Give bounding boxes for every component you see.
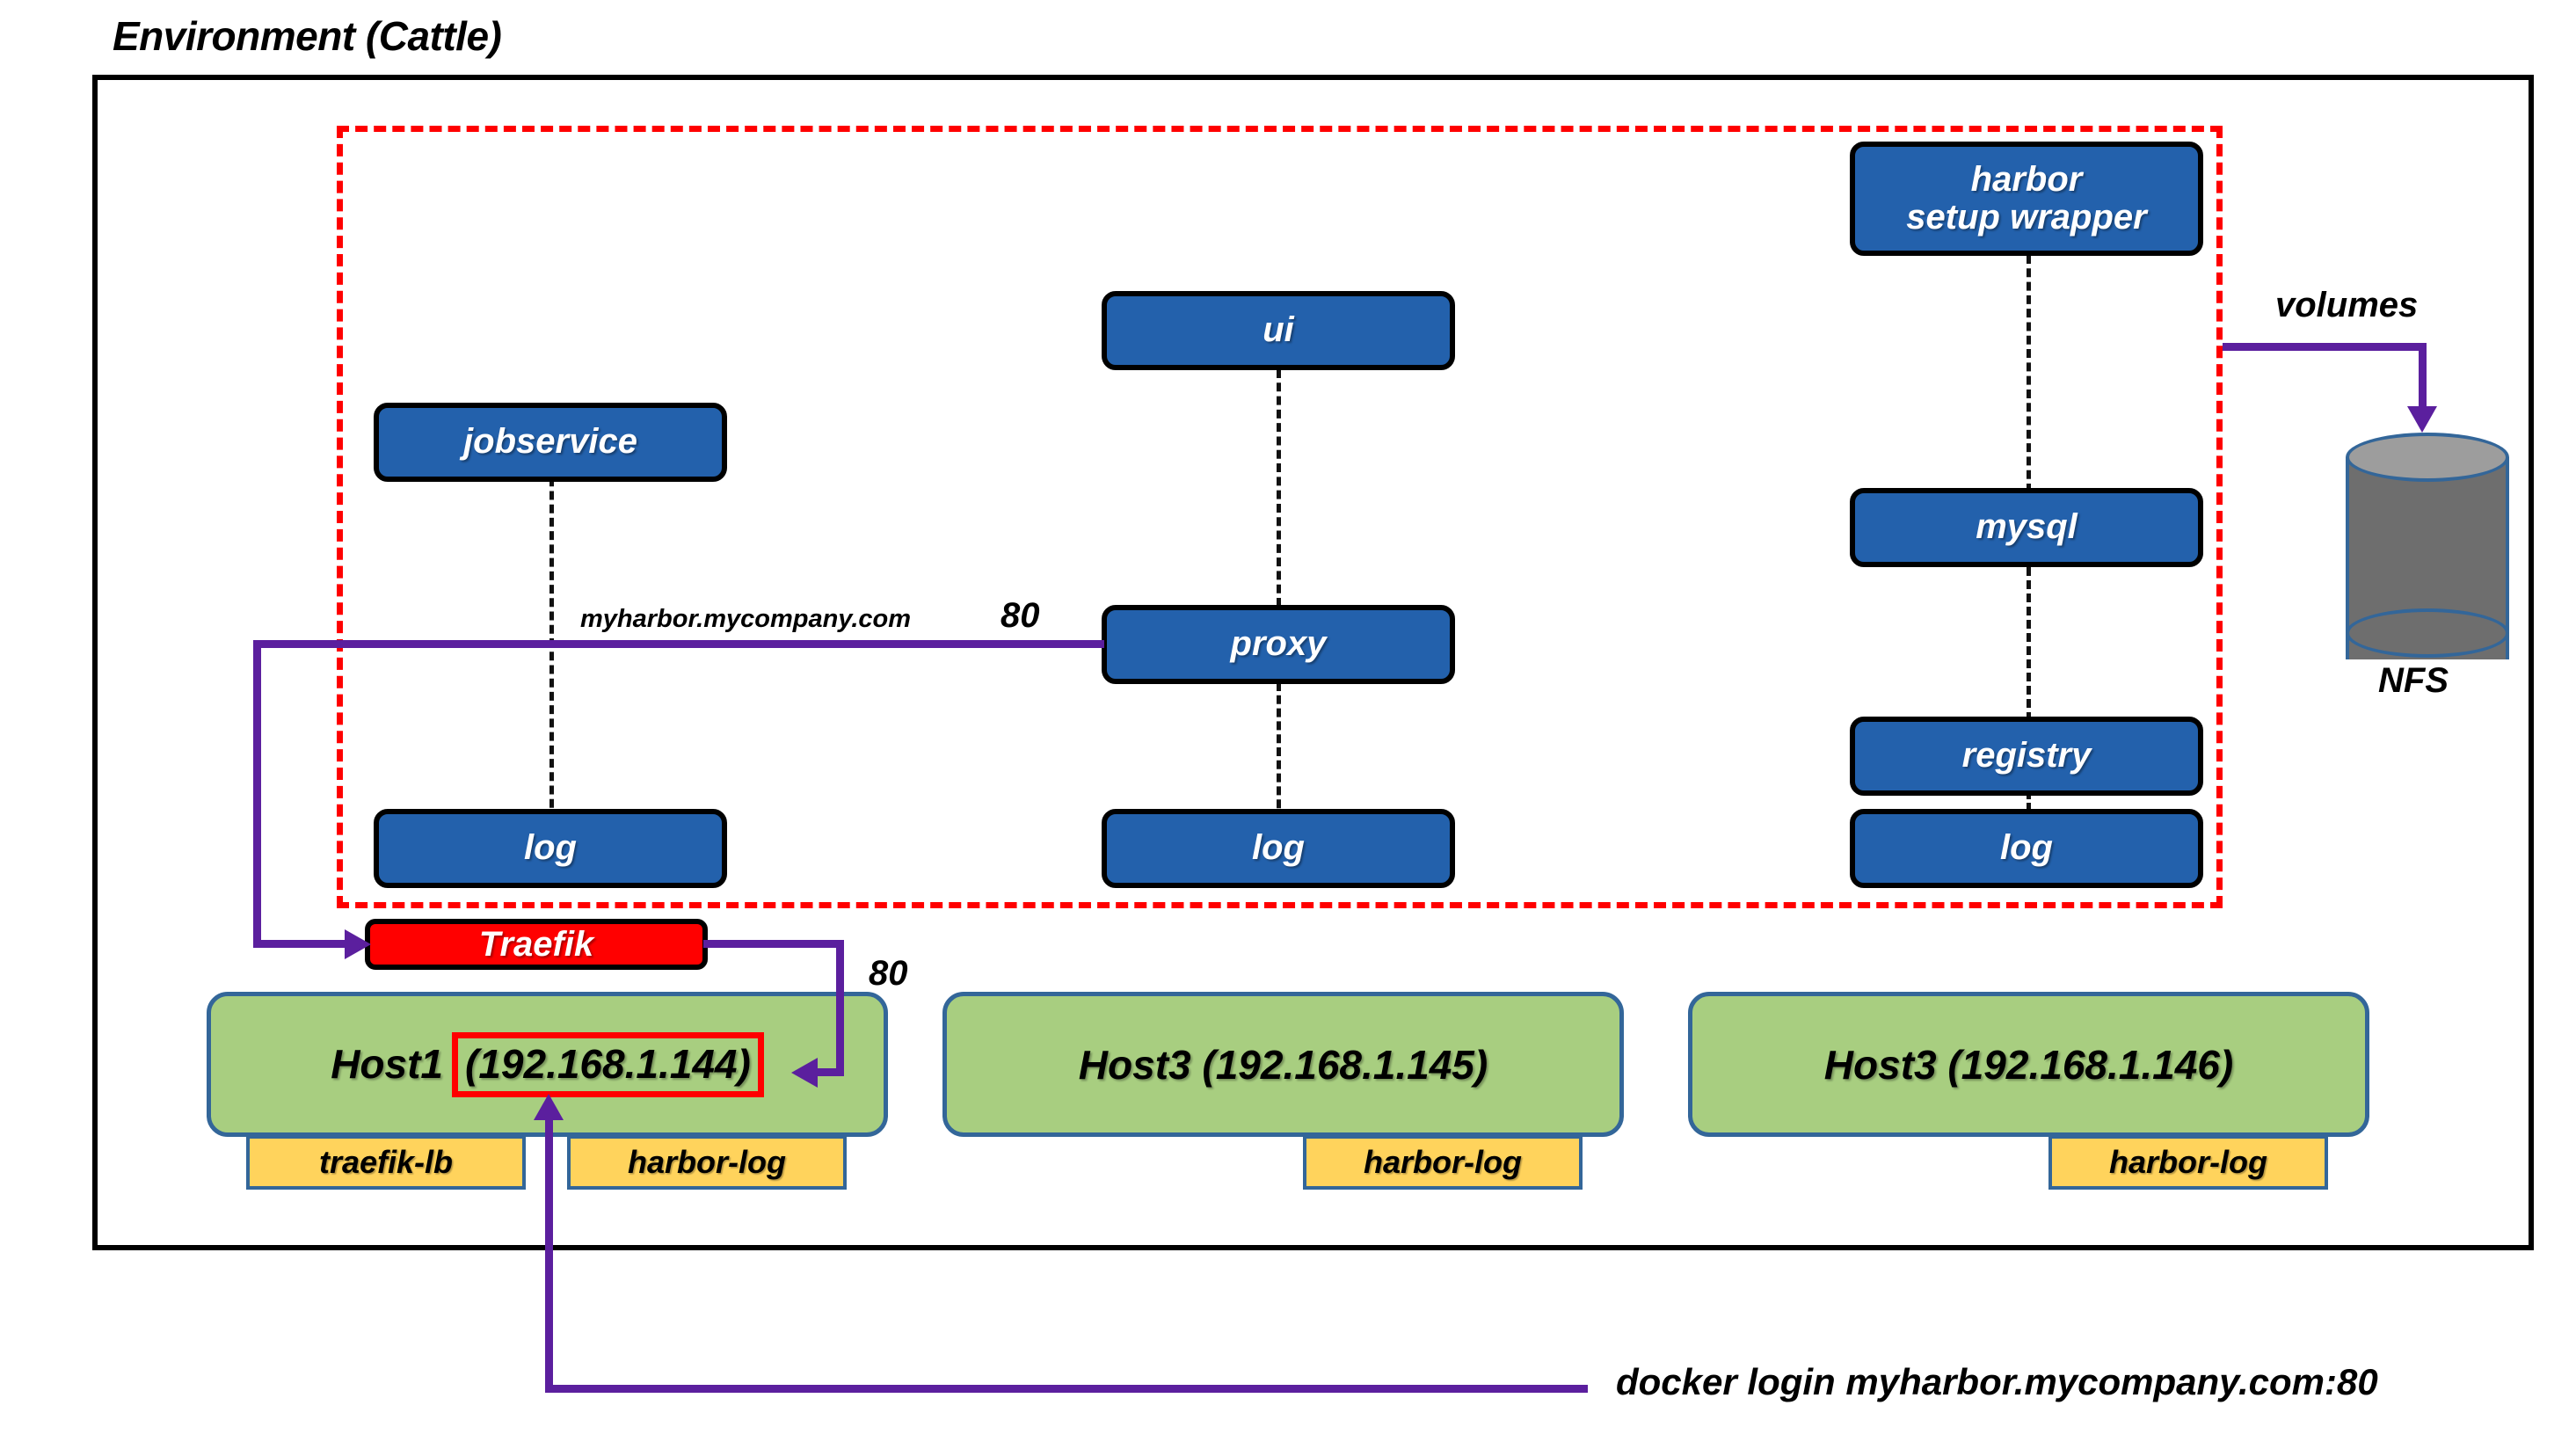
host-box-host2[interactable]: Host3 (192.168.1.145) <box>942 992 1624 1137</box>
service-box-log-right[interactable]: log <box>1850 809 2203 888</box>
host2-name: Host3 <box>1079 1042 1191 1088</box>
traefik-outbound-flow-bottom <box>818 1068 844 1076</box>
host1-inbound-arrowhead <box>791 1058 818 1088</box>
proxy-inbound-flow-vertical <box>253 640 261 948</box>
service-box-proxy[interactable]: proxy <box>1102 605 1455 684</box>
nfs-label: NFS <box>2378 661 2449 701</box>
docker-login-arrowhead <box>534 1094 564 1120</box>
traefik-label: Traefik <box>479 925 593 965</box>
proxy-inbound-flow-bottom <box>253 940 350 948</box>
stack-tag-harbor-log-host1-label: harbor-log <box>628 1144 786 1181</box>
volumes-flow-horizontal <box>2223 343 2427 351</box>
host2-label: Host3 (192.168.1.145) <box>1079 1041 1488 1089</box>
volumes-flow-arrowhead <box>2407 406 2437 433</box>
traefik-outbound-flow-top <box>703 940 844 948</box>
connector-mysql-registry <box>2027 567 2031 721</box>
host3-ip: (192.168.1.146) <box>1947 1042 2233 1088</box>
stack-tag-traefik-lb-label: traefik-lb <box>319 1144 453 1181</box>
service-label-log-left: log <box>524 829 577 867</box>
nfs-cylinder-icon <box>2346 433 2509 658</box>
service-label-log-right: log <box>2000 829 2053 867</box>
traefik-box[interactable]: Traefik <box>365 919 708 970</box>
stack-tag-harbor-log-host3[interactable]: harbor-log <box>2048 1135 2328 1190</box>
stack-tag-traefik-lb[interactable]: traefik-lb <box>246 1135 526 1190</box>
service-box-harbor-setup-wrapper[interactable]: harbor setup wrapper <box>1850 142 2203 256</box>
docker-login-label: docker login myharbor.mycompany.com:80 <box>1616 1361 2378 1403</box>
host3-name: Host3 <box>1824 1042 1937 1088</box>
environment-title: Environment (Cattle) <box>113 12 501 60</box>
service-label-ui: ui <box>1263 311 1294 349</box>
domain-label: myharbor.mycompany.com <box>580 605 911 634</box>
diagram-canvas: Environment (Cattle) jobservice log ui p… <box>0 0 2576 1449</box>
docker-login-flow-vertical <box>545 1118 553 1389</box>
traefik-inbound-arrowhead <box>345 929 371 959</box>
traefik-outbound-flow-vertical <box>836 940 844 1076</box>
service-box-log-mid[interactable]: log <box>1102 809 1455 888</box>
volumes-label: volumes <box>2275 286 2418 325</box>
stack-tag-harbor-log-host3-label: harbor-log <box>2109 1144 2267 1181</box>
stack-tag-harbor-log-host2[interactable]: harbor-log <box>1303 1135 1583 1190</box>
host-box-host3[interactable]: Host3 (192.168.1.146) <box>1688 992 2369 1137</box>
connector-ui-proxy <box>1277 369 1281 607</box>
host1-name: Host1 <box>331 1041 443 1087</box>
service-box-jobservice[interactable]: jobservice <box>374 403 727 482</box>
service-box-log-left[interactable]: log <box>374 809 727 888</box>
stack-tag-harbor-log-host1[interactable]: harbor-log <box>567 1135 847 1190</box>
host1-ip: (192.168.1.144) <box>452 1032 764 1097</box>
service-label-log-mid: log <box>1252 829 1305 867</box>
host2-ip: (192.168.1.145) <box>1202 1042 1488 1088</box>
stack-tag-harbor-log-host2-label: harbor-log <box>1364 1144 1522 1181</box>
host3-label: Host3 (192.168.1.146) <box>1824 1041 2233 1089</box>
docker-login-flow-horizontal <box>545 1385 1588 1393</box>
service-label-jobservice: jobservice <box>463 423 637 461</box>
connector-proxy-log <box>1277 682 1281 821</box>
proxy-port-label: 80 <box>1001 596 1040 636</box>
service-label-harbor-setup-wrapper-line2: setup wrapper <box>1906 199 2146 237</box>
proxy-inbound-flow-top <box>253 640 1104 648</box>
service-label-proxy: proxy <box>1231 625 1327 663</box>
service-label-registry: registry <box>1962 737 2092 775</box>
connector-wrapper-mysql <box>2027 255 2031 492</box>
volumes-flow-vertical <box>2419 343 2427 410</box>
service-box-ui[interactable]: ui <box>1102 291 1455 370</box>
traefik-port-label: 80 <box>869 954 908 994</box>
service-box-registry[interactable]: registry <box>1850 717 2203 796</box>
service-label-harbor-setup-wrapper-line1: harbor <box>1971 161 2083 199</box>
service-box-mysql[interactable]: mysql <box>1850 488 2203 567</box>
service-label-mysql: mysql <box>1976 508 2078 546</box>
host1-label: Host1(192.168.1.144) <box>331 1032 764 1097</box>
